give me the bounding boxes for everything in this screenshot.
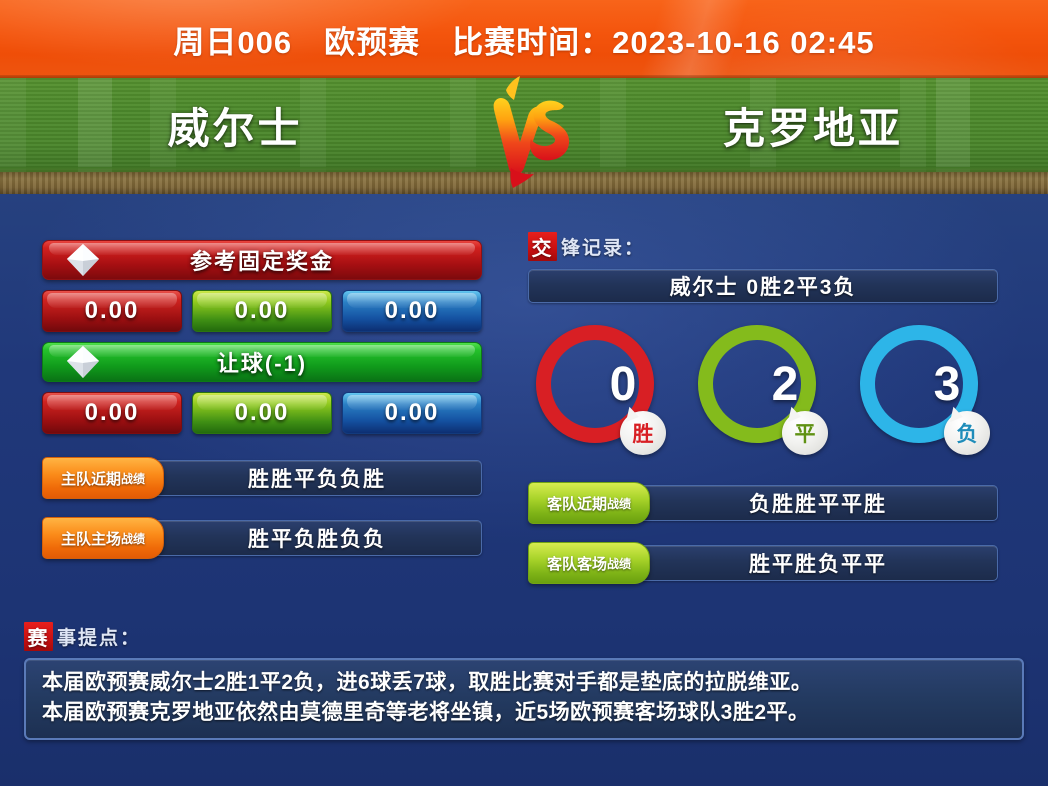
home-recent-form-row: 主队近期战绩 胜胜平负负胜 — [42, 460, 482, 496]
away-away-form-tag-main: 客队客场 — [547, 553, 607, 574]
handicap-title-label: 让球(-1) — [217, 346, 307, 378]
home-home-form-value: 胜平负胜负负 — [152, 520, 482, 556]
handicap-title-bar: 让球(-1) — [42, 342, 482, 382]
home-recent-form-value: 胜胜平负负胜 — [152, 460, 482, 496]
loss-ring-badge: 负 — [944, 411, 990, 455]
away-team-name: 克罗地亚 — [578, 78, 1048, 172]
h2h-ring-win: 0 胜 — [536, 325, 666, 453]
fixed-odds-draw-button[interactable]: 0.00 — [192, 290, 332, 332]
h2h-summary-bar: 威尔士 0胜2平3负 — [528, 269, 998, 303]
note-line: 本届欧预赛克罗地亚依然由莫德里奇等老将坐镇，近5场欧预赛客场球队3胜2平。 — [42, 698, 1006, 728]
diamond-gem-icon — [63, 342, 103, 382]
home-home-form-tag: 主队主场战绩 — [42, 517, 164, 559]
notes-section-title: 赛 事提点： — [24, 622, 1024, 651]
h2h-rings: 0 胜 2 平 3 负 — [528, 325, 998, 453]
away-away-form-tag-sub: 战绩 — [607, 555, 631, 572]
away-recent-form-tag-sub: 战绩 — [607, 495, 631, 512]
note-line: 本届欧预赛威尔士2胜1平2负，进6球丢7球，取胜比赛对手都是垫底的拉脱维亚。 — [42, 668, 1006, 698]
fixed-odds-away-button[interactable]: 0.00 — [342, 290, 482, 332]
home-recent-form-tag: 主队近期战绩 — [42, 457, 164, 499]
away-away-form-tag: 客队客场战绩 — [528, 542, 650, 584]
fixed-odds-title-bar: 参考固定奖金 — [42, 240, 482, 280]
handicap-odds-draw-button[interactable]: 0.00 — [192, 392, 332, 434]
handicap-odds-home-button[interactable]: 0.00 — [42, 392, 182, 434]
match-header-bar: 周日006 欧预赛 比赛时间：2023-10-16 02:45 — [0, 0, 1048, 78]
home-home-form-row: 主队主场战绩 胜平负胜负负 — [42, 520, 482, 556]
win-ring-badge: 胜 — [620, 411, 666, 455]
fixed-odds-home-button[interactable]: 0.00 — [42, 290, 182, 332]
match-notes-panel: 赛 事提点： 本届欧预赛威尔士2胜1平2负，进6球丢7球，取胜比赛对手都是垫底的… — [24, 622, 1024, 740]
home-recent-form-tag-sub: 战绩 — [121, 470, 145, 487]
header-title-text: 周日006 欧预赛 比赛时间：2023-10-16 02:45 — [0, 0, 1048, 78]
fixed-odds-row: 0.00 0.00 0.00 — [42, 290, 482, 332]
h2h-ring-loss: 3 负 — [860, 325, 990, 453]
h2h-title-badge: 交 — [528, 232, 557, 261]
draw-ring-badge: 平 — [782, 411, 828, 455]
home-team-name: 威尔士 — [0, 78, 470, 172]
h2h-title-rest: 锋记录： — [561, 233, 645, 260]
notes-title-badge: 赛 — [24, 622, 53, 651]
away-recent-form-value: 负胜胜平平胜 — [638, 485, 998, 521]
notes-box: 本届欧预赛威尔士2胜1平2负，进6球丢7球，取胜比赛对手都是垫底的拉脱维亚。 本… — [24, 658, 1024, 740]
field-dirt-strip — [0, 172, 1048, 194]
away-recent-form-row: 客队近期战绩 负胜胜平平胜 — [528, 485, 998, 521]
away-away-form-value: 胜平胜负平平 — [638, 545, 998, 581]
fixed-odds-title-label: 参考固定奖金 — [190, 244, 334, 276]
away-away-form-row: 客队客场战绩 胜平胜负平平 — [528, 545, 998, 581]
diamond-gem-icon — [63, 240, 103, 280]
home-home-form-tag-sub: 战绩 — [121, 530, 145, 547]
handicap-odds-away-button[interactable]: 0.00 — [342, 392, 482, 434]
home-recent-form-tag-main: 主队近期 — [61, 468, 121, 489]
handicap-odds-row: 0.00 0.00 0.00 — [42, 392, 482, 434]
odds-panel: 参考固定奖金 0.00 0.00 0.00 让球(-1) 0.00 0.00 — [42, 240, 482, 556]
h2h-ring-draw: 2 平 — [698, 325, 828, 453]
away-recent-form-tag-main: 客队近期 — [547, 493, 607, 514]
notes-title-rest: 事提点： — [57, 623, 141, 650]
h2h-section-title: 交 锋记录： — [528, 232, 998, 261]
head-to-head-panel: 交 锋记录： 威尔士 0胜2平3负 0 胜 2 平 3 负 客队近期 — [528, 232, 998, 581]
away-recent-form-tag: 客队近期战绩 — [528, 482, 650, 524]
match-preview-page: 周日006 欧预赛 比赛时间：2023-10-16 02:45 威尔士 克罗地亚 — [0, 0, 1048, 786]
home-home-form-tag-main: 主队主场 — [61, 528, 121, 549]
